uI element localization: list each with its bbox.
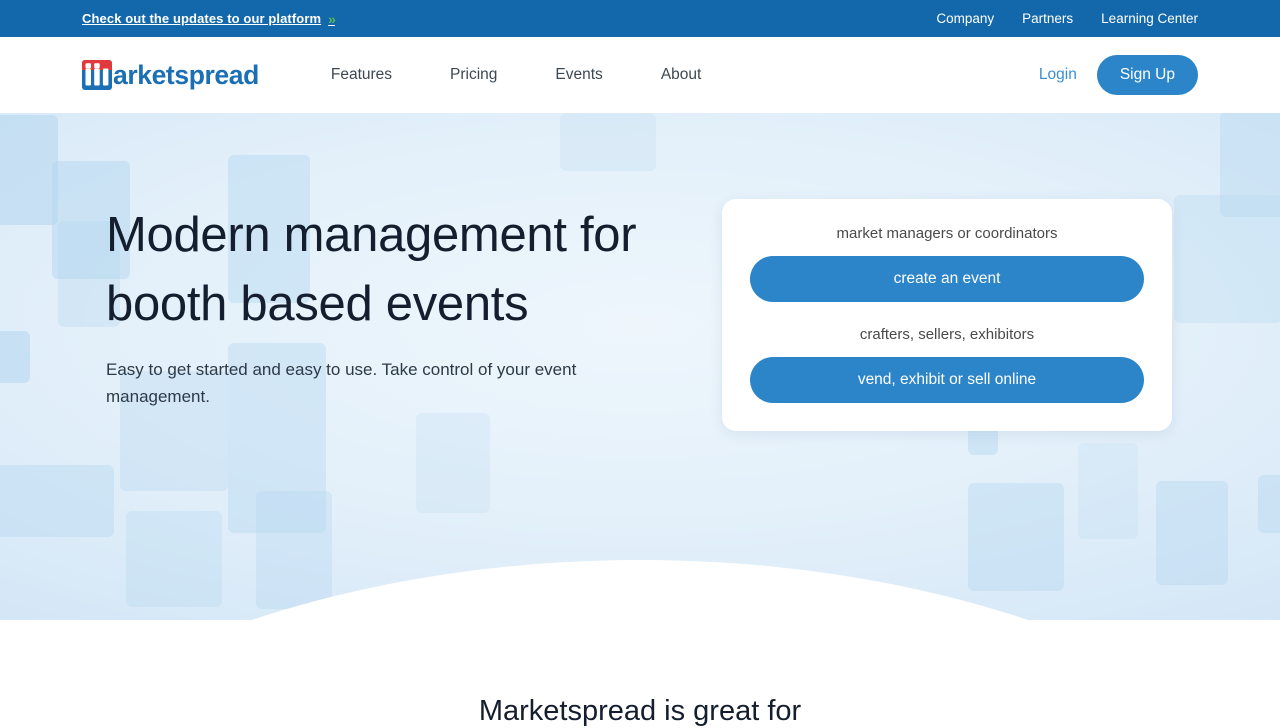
signup-button[interactable]: Sign Up: [1097, 55, 1198, 95]
nav-item-about[interactable]: About: [661, 66, 702, 84]
topbar-link-company[interactable]: Company: [936, 11, 994, 26]
hero-title: Modern management for booth based events: [106, 201, 666, 338]
nav-auth-actions: Login Sign Up: [1039, 55, 1198, 95]
login-link[interactable]: Login: [1039, 66, 1077, 84]
topbar-link-partners[interactable]: Partners: [1022, 11, 1073, 26]
nav-item-features[interactable]: Features: [331, 66, 392, 84]
hero-copy-block: Modern management for booth based events…: [106, 201, 666, 411]
hero-cta-card: market managers or coordinators create a…: [722, 199, 1172, 431]
cta-label-crafters: crafters, sellers, exhibitors: [750, 326, 1144, 343]
nav-item-events[interactable]: Events: [555, 66, 602, 84]
hero-section: Modern management for booth based events…: [0, 113, 1280, 620]
great-for-title: Marketspread is great for: [479, 695, 801, 720]
hero-content: Modern management for booth based events…: [0, 113, 1280, 620]
create-an-event-button[interactable]: create an event: [750, 256, 1144, 302]
double-chevron-right-icon: »: [328, 12, 335, 26]
great-for-section: Marketspread is great for: [0, 620, 1280, 720]
platform-updates-label: Check out the updates to our platform: [82, 11, 321, 26]
nav-item-pricing[interactable]: Pricing: [450, 66, 497, 84]
brand-wordmark: arketspread: [113, 62, 259, 89]
brand-logo-link[interactable]: arketspread: [82, 60, 259, 90]
platform-updates-link[interactable]: Check out the updates to our platform »: [82, 11, 335, 26]
cta-label-managers: market managers or coordinators: [750, 225, 1144, 242]
primary-nav-links: Features Pricing Events About: [331, 66, 701, 84]
marketspread-logo-icon: [82, 60, 112, 90]
top-utility-links: Company Partners Learning Center: [936, 11, 1198, 26]
vend-exhibit-sell-online-button[interactable]: vend, exhibit or sell online: [750, 357, 1144, 403]
top-utility-bar: Check out the updates to our platform » …: [0, 0, 1280, 37]
main-navigation-bar: arketspread Features Pricing Events Abou…: [0, 37, 1280, 113]
topbar-link-learning-center[interactable]: Learning Center: [1101, 11, 1198, 26]
hero-subtitle: Easy to get started and easy to use. Tak…: [106, 356, 636, 410]
